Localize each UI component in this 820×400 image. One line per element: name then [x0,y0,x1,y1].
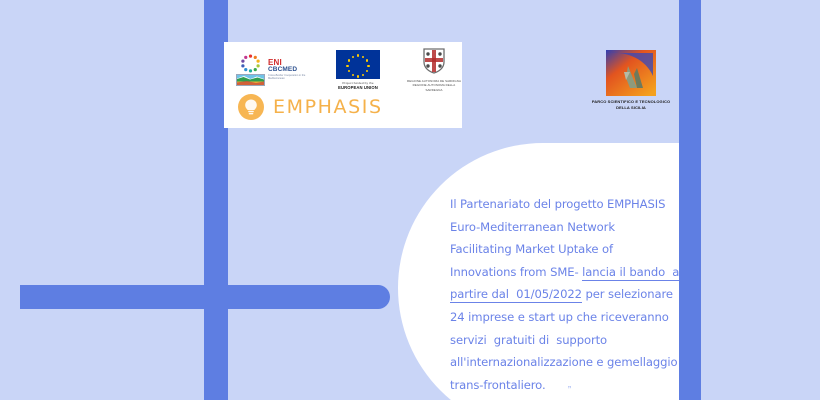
decorative-horizontal-bar [20,285,390,309]
psts-emblem-glyph [606,50,656,96]
eu-caption-line2: EUROPEAN UNION [336,85,380,90]
eni-cbcmed-logo: ENI CBCMED Cross-Border Cooperation in t… [236,54,314,86]
emphasis-wordmark: EMPHASIS [273,96,383,118]
sponsor-logo-row: ENI CBCMED Cross-Border Cooperation in t… [224,48,462,92]
sponsor-logo-card: ENI CBCMED Cross-Border Cooperation in t… [224,42,462,128]
psts-caption-line2: DELLA SICILIA [576,105,686,111]
lightbulb-glyph [238,94,264,120]
poster-canvas: ENI CBCMED Cross-Border Cooperation in t… [0,0,820,400]
sardinia-caption-line2: REGIONE AUTONOMA DELLA SARDEGNA [406,83,462,91]
announcement-segment-2: per selezionare 24 imprese e start up ch… [450,287,677,391]
footer-mark: „ [568,379,572,389]
eni-logo-marks [236,54,265,86]
announcement-text: Il Partenariato del progetto EMPHASIS Eu… [450,193,696,396]
psts-emblem-icon [606,50,656,96]
european-union-logo: Project funded by the EUROPEAN UNION [336,50,380,90]
psts-caption: PARCO SCIENTIFICO E TECNOLOGICO DELLA SI… [576,99,686,111]
eni-fine-print: Cross-Border Cooperation in the Mediterr… [268,74,314,81]
eni-logo-text: ENI CBCMED Cross-Border Cooperation in t… [268,59,314,80]
psts-logo: PARCO SCIENTIFICO E TECNOLOGICO DELLA SI… [576,50,686,111]
regione-sardegna-logo: REGIONE AUTONOMA DE SARDIGNA REGIONE AUT… [406,48,462,92]
emphasis-logo: EMPHASIS [238,94,383,120]
mediterranean-landscape-icon [236,74,265,86]
eu-flag-icon [336,50,380,79]
sun-ring-icon [241,54,260,73]
lightbulb-icon [238,94,264,120]
sardinia-shield-icon [423,48,445,74]
